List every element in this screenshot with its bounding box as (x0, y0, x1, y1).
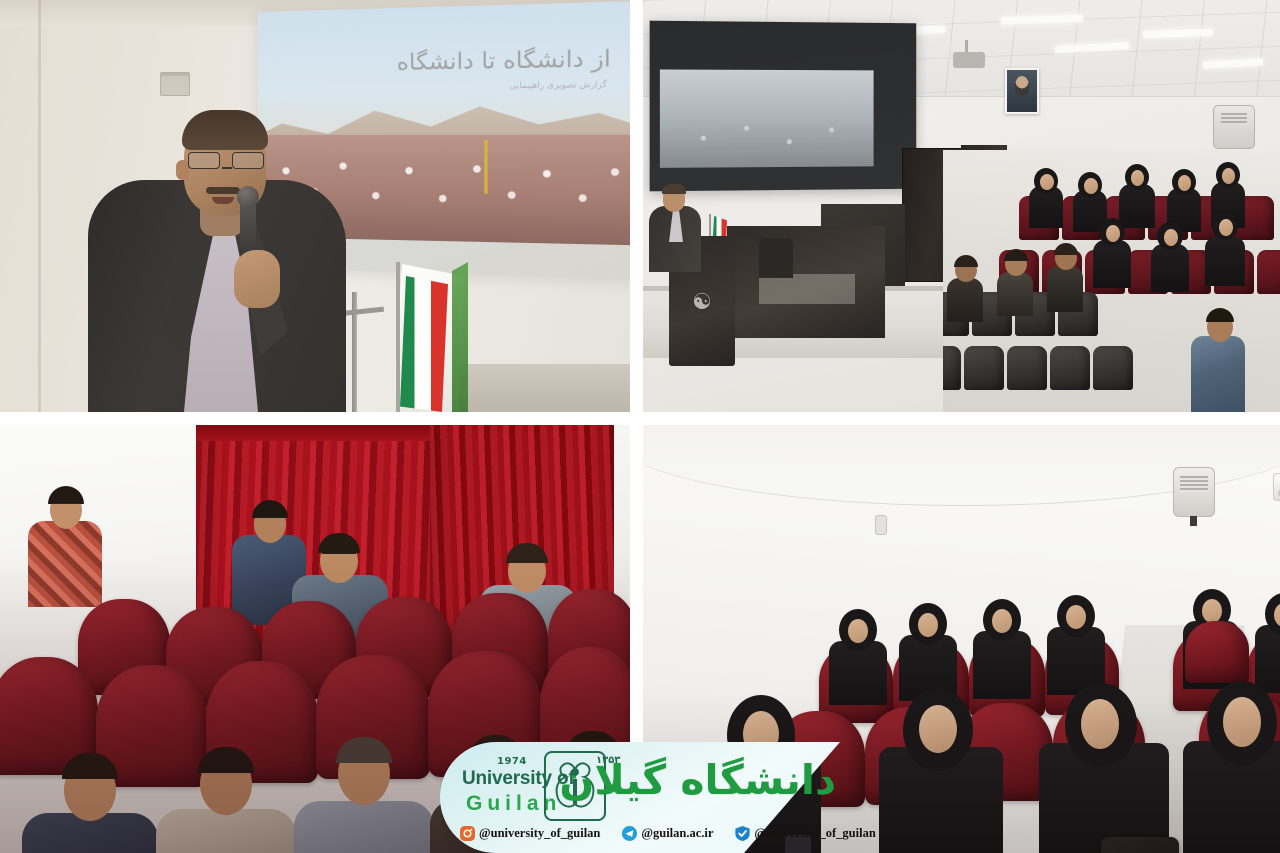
bale-icon (735, 826, 750, 841)
attendee-body (1255, 625, 1280, 693)
auditorium-seat (1093, 346, 1133, 390)
attendee-body (1151, 244, 1189, 292)
podium-university-emblem-icon: ☯ (689, 288, 715, 318)
telegram-icon (622, 826, 637, 841)
speaker-glasses-icon (188, 152, 264, 168)
speaker-hand (234, 250, 280, 308)
microphone-head (237, 186, 259, 208)
hall-audience-area (943, 150, 1280, 412)
hall-slide-image (660, 69, 874, 168)
attendee-face (1164, 229, 1178, 246)
speaker-moustache (206, 187, 240, 194)
attendee-face (1084, 178, 1098, 194)
wall-speaker-box (1173, 467, 1215, 517)
hall-speaker-figure (649, 182, 705, 272)
attendee-face (848, 619, 868, 643)
social-link-telegram[interactable]: @guilan.ac.ir (622, 826, 713, 841)
wall-seam (38, 0, 41, 412)
curtain-valance (196, 425, 444, 441)
wall-sensor (875, 515, 887, 535)
attendee-face (1066, 605, 1086, 629)
photo-lecture-hall-wide-view: ☯ (643, 0, 1280, 412)
speaker-mouth (212, 197, 234, 204)
attendee-face (1178, 175, 1191, 191)
attendee-body (1119, 184, 1155, 228)
attendee-body (1047, 266, 1083, 312)
speaker-brow (222, 167, 232, 169)
speaker-hair (182, 110, 268, 150)
banner-title-persian: دانشگاه گیلان (559, 744, 836, 816)
instagram-icon (460, 826, 475, 841)
table-edge (440, 364, 630, 412)
attendee-body (1093, 240, 1131, 288)
social-links-row: @university_of_guilan @guilan.ac.ir (460, 826, 828, 841)
slide-title-text: از دانشگاه تا دانشگاه (397, 46, 611, 76)
attendee-face (918, 613, 938, 637)
seat-row (943, 346, 1133, 390)
hall-projection-screen (650, 21, 917, 192)
stage-table (727, 226, 885, 338)
auditorium-seat (1185, 621, 1249, 683)
attendee-face (1131, 170, 1144, 186)
attendee-glasses-icon (52, 503, 80, 511)
university-flag-edge (452, 262, 468, 412)
telegram-handle: @guilan.ac.ir (641, 826, 713, 841)
attendee-body (973, 631, 1031, 699)
framed-portrait (1005, 68, 1039, 114)
banner-content: 1974 ۱۳۵۳ University of Guilan دانشگاه گ… (440, 742, 840, 853)
attendee-body (947, 278, 983, 322)
attendee-face (1202, 599, 1222, 623)
air-conditioner-unit (1273, 473, 1280, 501)
wall-speaker-box (1213, 105, 1255, 149)
collage-canvas: از دانشگاه تا دانشگاه گزارش تصویری راهپی… (0, 0, 1280, 853)
attendee-face (992, 609, 1012, 633)
auditorium-seat (1007, 346, 1047, 390)
founding-year-gregorian: 1974 (497, 756, 527, 767)
attendee-body (1191, 336, 1245, 412)
attendee-glasses-icon (256, 517, 284, 525)
attendee-face (1040, 174, 1054, 190)
attendee-body (1205, 236, 1245, 286)
wall-vent (160, 72, 190, 96)
social-link-instagram[interactable]: @university_of_guilan (460, 826, 600, 841)
iran-flag-pole (396, 262, 400, 412)
ceiling-projector (953, 52, 985, 68)
attendee-face (1106, 225, 1120, 242)
instagram-handle: @university_of_guilan (479, 826, 600, 841)
bale-handle: @university_of_guilan (754, 826, 875, 841)
auditorium-seat (1257, 250, 1280, 294)
iran-flag (398, 276, 448, 412)
attendee-face (1219, 219, 1233, 236)
hall-speaker-hair (662, 184, 686, 194)
slide-subtitle-text: گزارش تصویری راهپیمایی (509, 79, 606, 90)
social-link-bale[interactable]: @university_of_guilan (735, 826, 875, 841)
attendee-face (1222, 168, 1235, 184)
photo-speaker-with-microphone: از دانشگاه تا دانشگاه گزارش تصویری راهپی… (0, 0, 630, 412)
attendee-body (997, 272, 1033, 316)
auditorium-seat (943, 346, 961, 390)
speaker-figure (88, 112, 358, 412)
auditorium-seat (964, 346, 1004, 390)
auditorium-seat (1050, 346, 1090, 390)
slide-flag (485, 140, 488, 194)
stage-chair (759, 238, 793, 278)
